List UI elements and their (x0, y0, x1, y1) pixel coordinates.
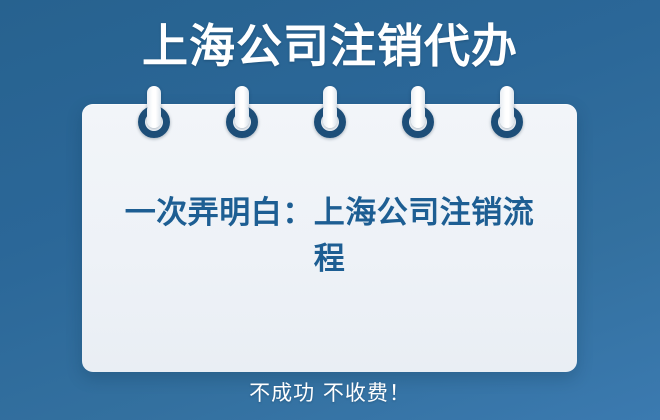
footer-slogan: 不成功 不收费！ (0, 378, 660, 408)
card-body-text: 一次弄明白：上海公司注销流程 (116, 190, 543, 282)
page-title: 上海公司注销代办 (0, 16, 660, 76)
notepad-card: 一次弄明白：上海公司注销流程 (82, 104, 577, 372)
poster-canvas: 上海公司注销代办 一次弄明白：上海公司注销流程 (0, 0, 660, 420)
